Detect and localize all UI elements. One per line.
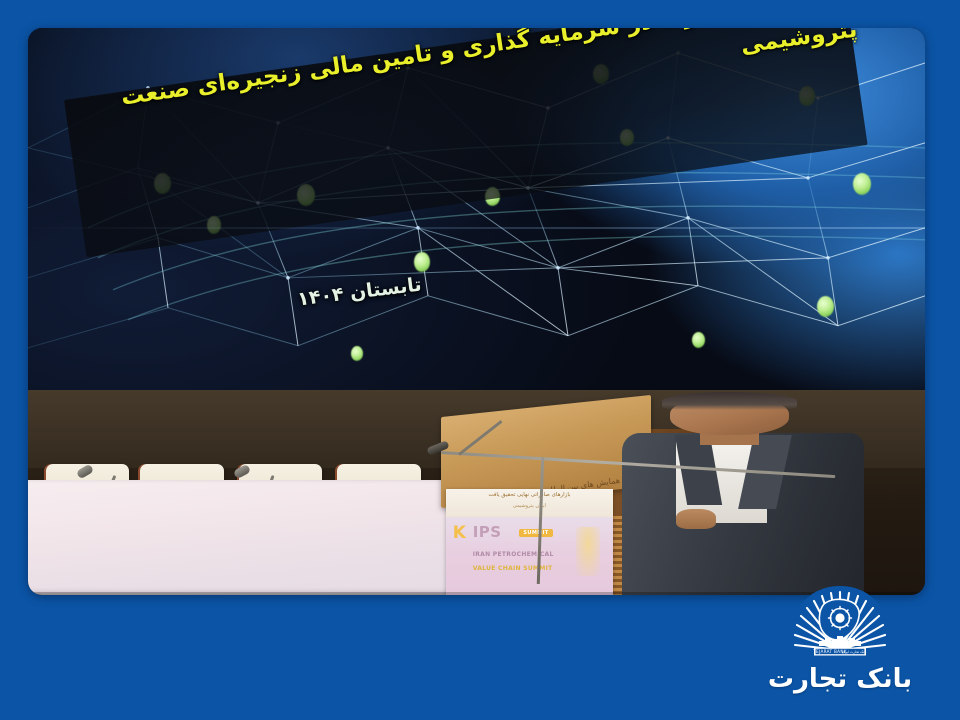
banner-emblem-icon (576, 527, 599, 576)
banner-persian-line-1: بازارهای صادراتی نهایی تحقیق یافت (446, 492, 613, 498)
banner-badge: SUMMIT (519, 529, 552, 537)
projection-screen: نقش بانک تجارت در سرمایه گذاری و تامین م… (28, 28, 925, 390)
event-photo: نقش بانک تجارت در سرمایه گذاری و تامین م… (28, 28, 925, 595)
panel-table (28, 480, 494, 595)
banner-logo-letter: K (453, 525, 466, 542)
tejarat-emblem-icon: TEJARAT BANK بانک تجارت ایران (786, 584, 894, 664)
emblem-caption-fa: بانک تجارت ایران (842, 650, 866, 654)
banner-logo-word: IPS (473, 525, 502, 540)
speaker-figure (611, 390, 880, 595)
glow-node (853, 173, 871, 195)
glow-node (692, 332, 705, 348)
speaker-hair (662, 392, 797, 410)
banner-persian-line-2: ایران پتروشیمی (446, 503, 613, 509)
stage-area: مرکز همایش های بین المللی پژوهشگاه صنعت … (28, 390, 925, 595)
bank-tejarat-logo: TEJARAT BANK بانک تجارت ایران بانک تجارت (752, 584, 928, 702)
banner-subtitle-2: VALUE CHAIN SUMMIT (473, 565, 553, 572)
glow-node (817, 296, 834, 317)
brand-name-fa: بانک تجارت (752, 666, 928, 692)
glow-node (414, 252, 430, 272)
summit-banner: بازارهای صادراتی نهایی تحقیق یافت ایران … (446, 489, 613, 595)
banner-subtitle-1: IRAN PETROCHEMICAL (473, 551, 554, 558)
tejarat-sunburst-icon: TEJARAT BANK بانک تجارت ایران (786, 584, 894, 664)
news-card: نقش بانک تجارت در سرمایه گذاری و تامین م… (0, 0, 960, 720)
speaker-hand (676, 509, 716, 530)
